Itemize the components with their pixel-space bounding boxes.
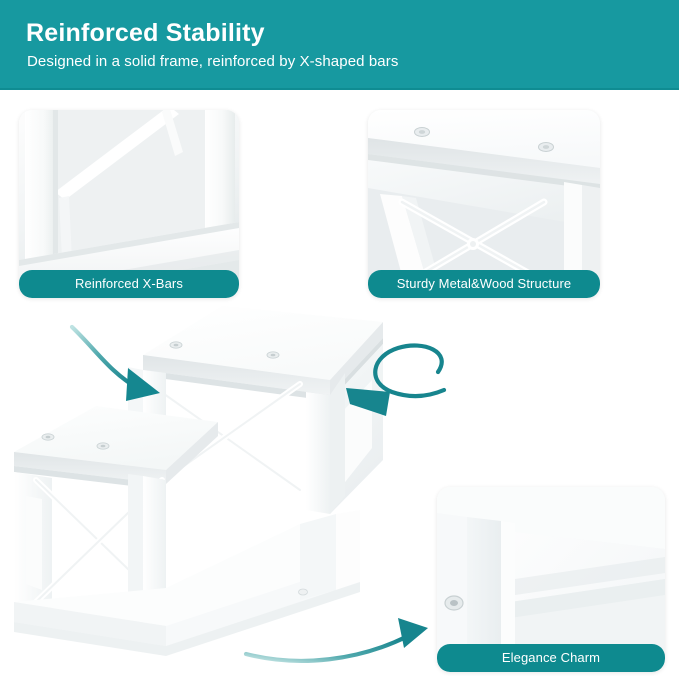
page-title: Reinforced Stability (26, 18, 265, 48)
page-subtitle: Designed in a solid frame, reinforced by… (27, 52, 398, 72)
header-banner: Reinforced Stability Designed in a solid… (0, 0, 679, 90)
card-label-sturdy-metal-wood-structure: Sturdy Metal&Wood Structure (368, 270, 600, 298)
hero-product-image (0, 300, 440, 676)
callout-card-sturdy-metal-wood-structure: Sturdy Metal&Wood Structure (368, 110, 600, 298)
card-label-elegance-charm: Elegance Charm (437, 644, 665, 672)
callout-card-elegance-charm: Elegance Charm (437, 487, 665, 672)
side-table-illustration (0, 300, 440, 676)
header-divider (0, 88, 679, 90)
callout-card-reinforced-x-bars: Reinforced X-Bars (19, 110, 239, 298)
card-label-reinforced-x-bars: Reinforced X-Bars (19, 270, 239, 298)
screw-head (445, 596, 463, 610)
